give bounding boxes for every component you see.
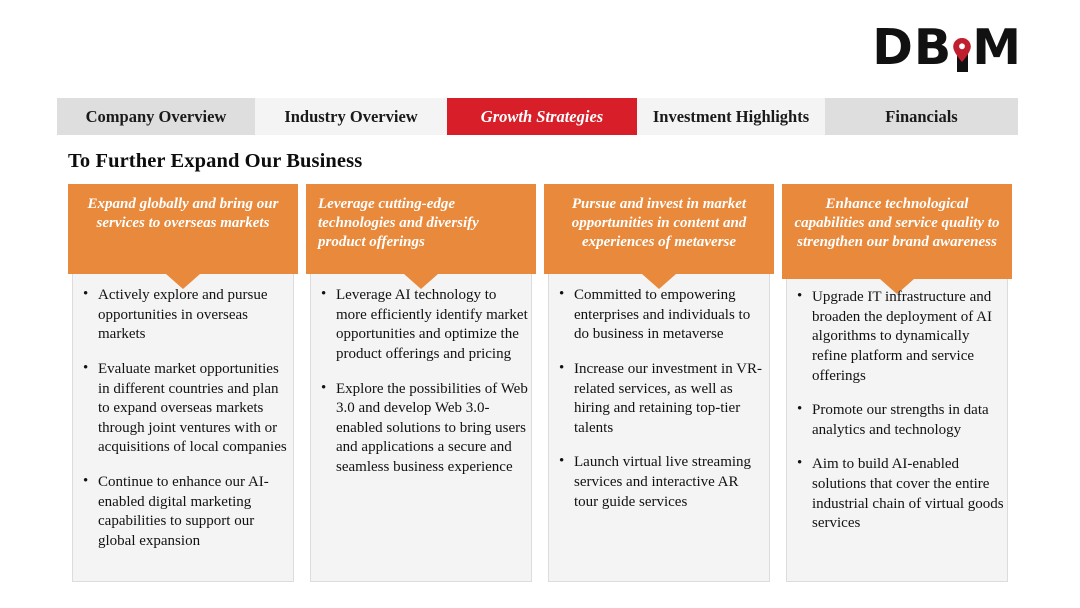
tab-industry-overview[interactable]: Industry Overview bbox=[255, 98, 447, 135]
list-item: Upgrade IT infrastructure and broaden th… bbox=[792, 288, 1004, 386]
logo-letter-i bbox=[952, 47, 972, 72]
strategy-column-3: Pursue and invest in market opportunitie… bbox=[544, 184, 774, 582]
strategy-column-2: Leverage cutting-edge technologies and d… bbox=[306, 184, 536, 582]
list-item: Leverage AI technology to more efficient… bbox=[316, 286, 528, 365]
tab-financials[interactable]: Financials bbox=[825, 98, 1018, 135]
tab-company-overview[interactable]: Company Overview bbox=[57, 98, 255, 135]
card-heading-3: Pursue and invest in market opportunitie… bbox=[544, 184, 774, 274]
logo-text-after: M bbox=[972, 23, 1022, 72]
tab-investment-highlights[interactable]: Investment Highlights bbox=[637, 98, 825, 135]
strategy-column-4: Enhance technological capabilities and s… bbox=[782, 184, 1012, 582]
bullet-list-2: Leverage AI technology to more efficient… bbox=[316, 286, 528, 478]
list-item: Explore the possibilities of Web 3.0 and… bbox=[316, 380, 528, 478]
card-heading-1: Expand globally and bring our services t… bbox=[68, 184, 298, 274]
strategy-columns: Expand globally and bring our services t… bbox=[68, 184, 1018, 582]
strategy-column-1: Expand globally and bring our services t… bbox=[68, 184, 298, 582]
card-heading-4: Enhance technological capabilities and s… bbox=[782, 184, 1012, 279]
bullet-list-3: Committed to empowering enterprises and … bbox=[554, 286, 766, 512]
list-item: Evaluate market opportunities in differe… bbox=[78, 360, 290, 458]
location-pin-icon bbox=[953, 21, 972, 45]
brand-logo: DB M bbox=[872, 18, 1022, 76]
page-title: To Further Expand Our Business bbox=[68, 150, 362, 173]
logo-text-before: DB bbox=[872, 23, 952, 72]
list-item: Actively explore and pursue opportunitie… bbox=[78, 286, 290, 345]
list-item: Launch virtual live streaming services a… bbox=[554, 453, 766, 512]
list-item: Aim to build AI-enabled solutions that c… bbox=[792, 455, 1004, 534]
list-item: Continue to enhance our AI-enabled digit… bbox=[78, 473, 290, 552]
list-item: Committed to empowering enterprises and … bbox=[554, 286, 766, 345]
list-item: Increase our investment in VR-related se… bbox=[554, 360, 766, 439]
card-heading-2: Leverage cutting-edge technologies and d… bbox=[306, 184, 536, 274]
bullet-list-4: Upgrade IT infrastructure and broaden th… bbox=[792, 288, 1004, 534]
bullet-list-1: Actively explore and pursue opportunitie… bbox=[78, 286, 290, 552]
logo-wordmark: DB M bbox=[872, 23, 1022, 72]
list-item: Promote our strengths in data analytics … bbox=[792, 401, 1004, 440]
section-tab-bar[interactable]: Company Overview Industry Overview Growt… bbox=[57, 98, 1018, 135]
tab-growth-strategies[interactable]: Growth Strategies bbox=[447, 98, 637, 135]
